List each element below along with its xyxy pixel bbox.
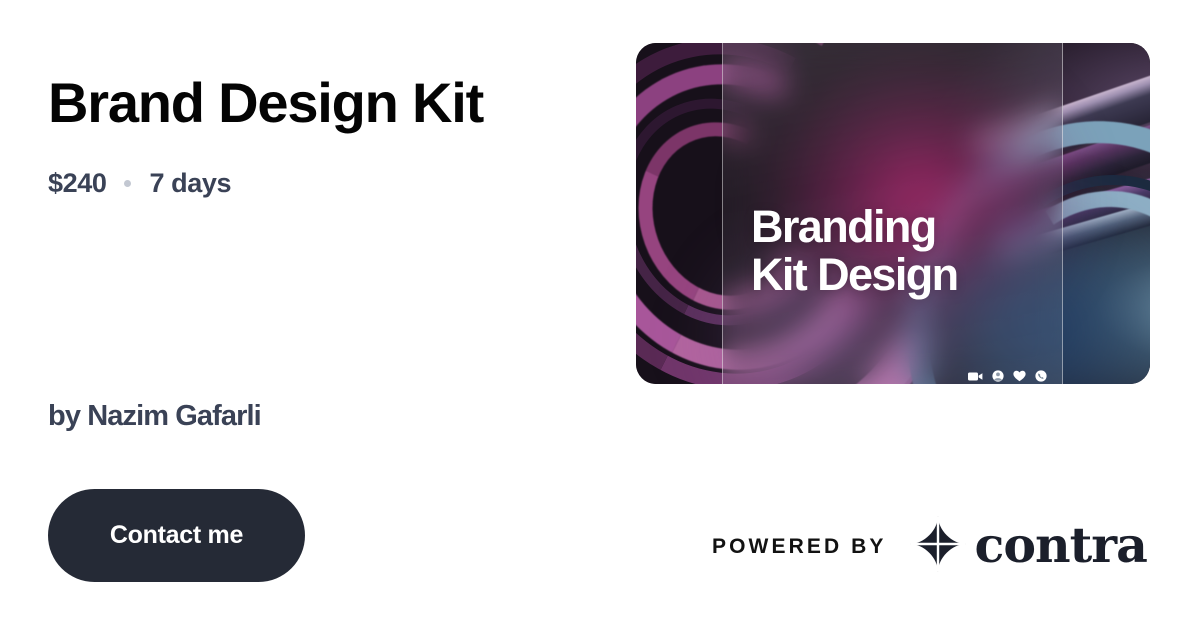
page-title: Brand Design Kit: [48, 70, 483, 136]
phone-icon: [1035, 370, 1047, 382]
preview-card-icon-row: [968, 370, 1047, 382]
listing-details-column: Brand Design Kit $240 7 days by Nazim Ga…: [48, 0, 608, 630]
contact-me-button[interactable]: Contact me: [48, 489, 305, 582]
user-circle-icon: [992, 370, 1004, 382]
contra-wordmark: contra: [975, 521, 1147, 570]
author-byline: by Nazim Gafarli: [48, 400, 261, 433]
four-point-star-icon: [909, 515, 967, 578]
og-share-card: Brand Design Kit $240 7 days by Nazim Ga…: [0, 0, 1200, 630]
heart-icon: [1013, 370, 1026, 382]
preview-card-heading: Branding Kit Design: [751, 203, 958, 299]
listing-price: $240: [48, 168, 106, 199]
project-preview-card[interactable]: Branding Kit Design: [636, 43, 1150, 384]
powered-by-label: POWERED BY: [712, 536, 887, 557]
powered-by-contra: POWERED BY contra: [712, 515, 1147, 578]
video-camera-icon: [968, 371, 983, 382]
meta-separator-dot: [124, 180, 131, 187]
listing-duration: 7 days: [149, 168, 231, 199]
listing-meta: $240 7 days: [48, 168, 231, 199]
